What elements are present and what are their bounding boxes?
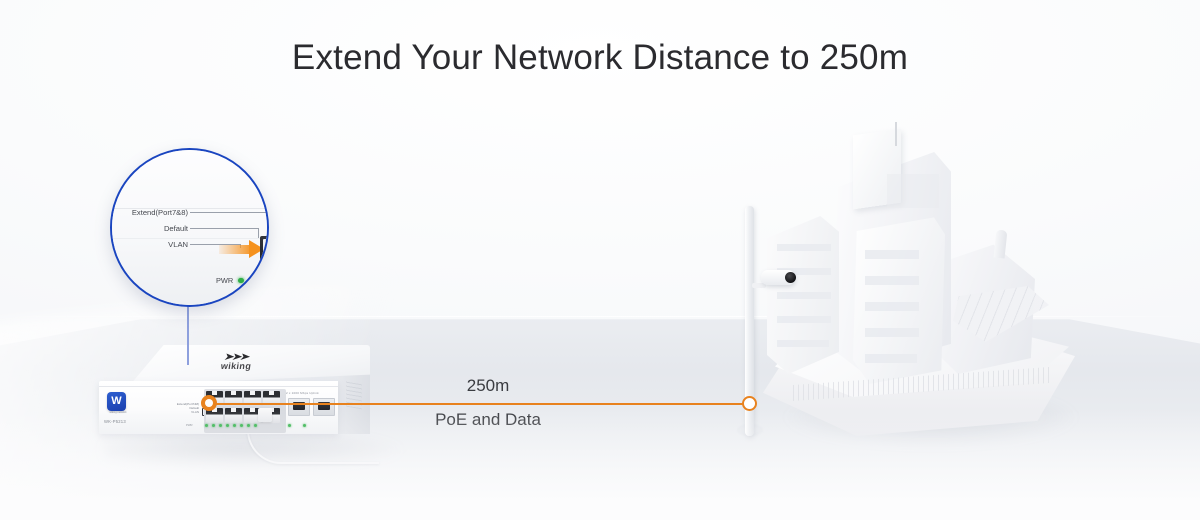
window-band bbox=[865, 250, 919, 259]
magnifier-circle: 10/100/1000 Mbps PoE Extend(Port7&8) Def… bbox=[110, 148, 269, 307]
switch-panel-seam bbox=[99, 386, 338, 387]
switch-side-vents bbox=[346, 381, 362, 410]
callout-leader-line bbox=[190, 228, 258, 229]
ground-bottom-fade bbox=[0, 410, 1200, 520]
callout-leader-line bbox=[190, 212, 269, 213]
window-band bbox=[865, 302, 919, 311]
switch-led-icon bbox=[264, 278, 269, 284]
rooftop-vent-pipe bbox=[994, 230, 1008, 259]
callout-label-extend: Extend(Port7&8) bbox=[110, 208, 188, 217]
callout-leader-line bbox=[258, 228, 259, 238]
window-band bbox=[777, 244, 831, 251]
brand-wordmark: wiking bbox=[204, 362, 267, 371]
switch-sfp-label: 2 x 1000 Mbps Uplink bbox=[286, 391, 319, 395]
window-band bbox=[865, 328, 919, 337]
callout-label-default: Default bbox=[124, 224, 188, 233]
arrow-shaft bbox=[219, 245, 253, 254]
page-title: Extend Your Network Distance to 250m bbox=[0, 38, 1200, 78]
switch-brand-logo: ➤➤➤ wiking bbox=[205, 350, 267, 376]
poe-link-line bbox=[208, 403, 754, 405]
window-band bbox=[777, 340, 829, 347]
led-label-pwr: PWR bbox=[216, 276, 233, 285]
link-distance-label: 250m bbox=[408, 376, 568, 396]
window-band bbox=[865, 276, 919, 285]
camera-lens-icon bbox=[785, 272, 796, 283]
link-endpoint-dot-camera bbox=[742, 396, 757, 411]
magnifier-content: 10/100/1000 Mbps PoE Extend(Port7&8) Def… bbox=[112, 150, 267, 305]
rooftop-antenna bbox=[895, 122, 897, 146]
window-band bbox=[865, 354, 917, 363]
window-band bbox=[887, 174, 939, 208]
scene-root: Extend Your Network Distance to 250m bbox=[0, 0, 1200, 520]
magnified-led-row: PWR SW bbox=[216, 276, 269, 285]
power-led-icon bbox=[238, 278, 244, 284]
callout-label-vlan: VLAN bbox=[124, 240, 188, 249]
window-band bbox=[777, 292, 831, 299]
window-band bbox=[777, 316, 831, 323]
panel-seam bbox=[112, 238, 267, 239]
brand-badge-icon: W bbox=[107, 392, 126, 411]
dip-switch-slider[interactable] bbox=[263, 239, 269, 259]
link-endpoint-dot-inner bbox=[205, 399, 213, 407]
